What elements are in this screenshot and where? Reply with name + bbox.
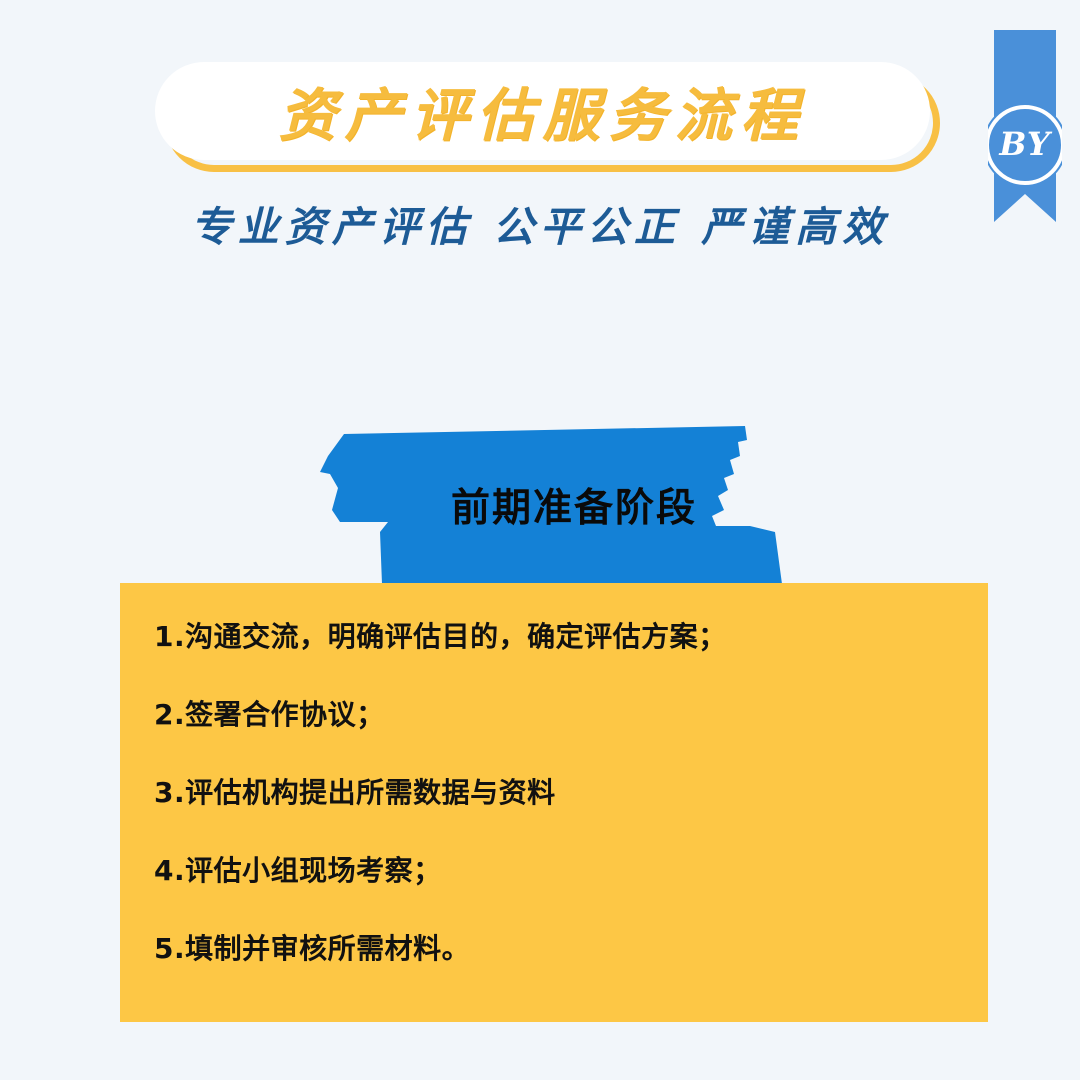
list-item: 4.评估小组现场考察； [154, 853, 954, 888]
list-item: 3.评估机构提出所需数据与资料 [154, 775, 954, 810]
poster-canvas: 资产评估服务流程 专业资产评估 公平公正 严谨高效 BY 前期准备阶段 1.沟通… [0, 0, 1080, 1080]
list-item: 5.填制并审核所需材料。 [154, 931, 954, 966]
list-item: 2.签署合作协议； [154, 697, 954, 732]
page-title: 资产评估服务流程 [155, 62, 930, 160]
page-subtitle: 专业资产评估 公平公正 严谨高效 [0, 193, 1080, 253]
content-card: 1.沟通交流，明确评估目的，确定评估方案； 2.签署合作协议； 3.评估机构提出… [120, 583, 988, 1022]
stage-title: 前期准备阶段 [320, 426, 790, 584]
title-banner: 资产评估服务流程 [155, 62, 930, 160]
list-item: 1.沟通交流，明确评估目的，确定评估方案； [154, 619, 954, 654]
ribbon-badge: BY [988, 30, 1062, 222]
steps-list: 1.沟通交流，明确评估目的，确定评估方案； 2.签署合作协议； 3.评估机构提出… [154, 619, 954, 966]
badge-letters: BY [988, 128, 1062, 160]
